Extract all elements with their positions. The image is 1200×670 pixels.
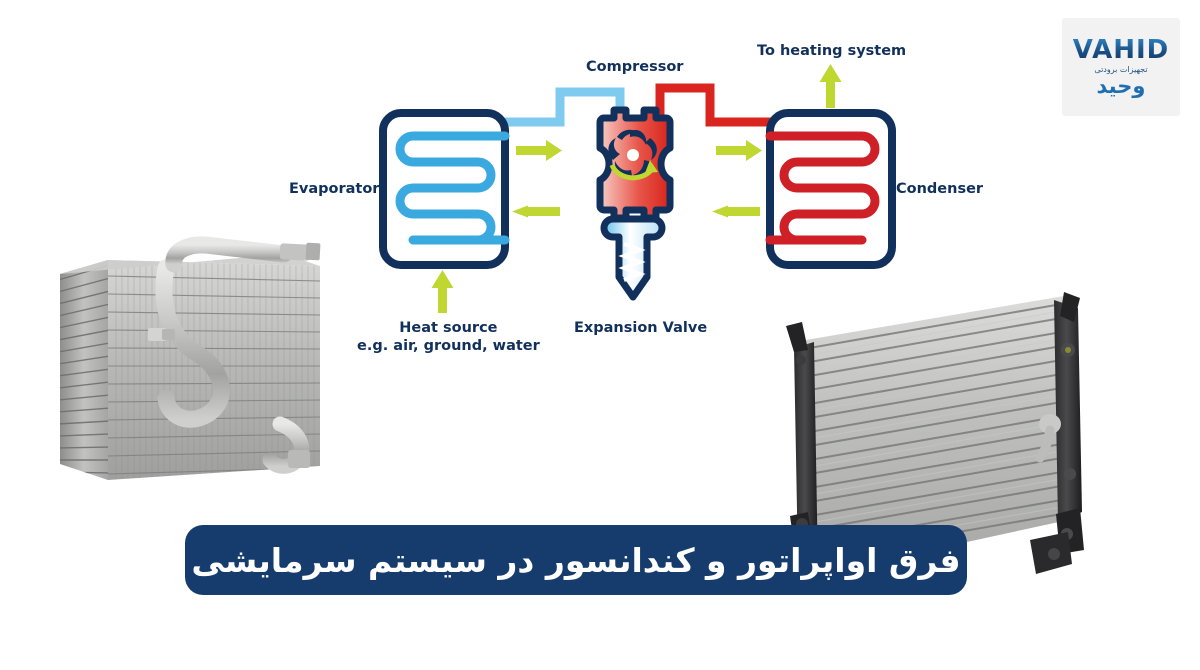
title-banner: فرق اواپراتور و کندانسور در سیستم سرمایش… (185, 525, 967, 595)
arrow-evaporator-to-compressor (516, 140, 562, 161)
arrow-compressor-to-condenser (716, 140, 762, 161)
poster-canvas: Evaporator Condenser Compressor To heati… (0, 0, 1200, 670)
arrow-condenser-to-valve (712, 206, 760, 218)
logo-name-fa: وحید (1097, 76, 1146, 97)
vahid-logo: VAHID تجهیزات برودتی وحید (1062, 18, 1180, 116)
label-evaporator: Evaporator (289, 181, 379, 199)
condenser-unit (770, 113, 892, 265)
logo-subtitle-fa: تجهیزات برودتی (1094, 66, 1147, 74)
banner-title-text: فرق اواپراتور و کندانسور در سیستم سرمایش… (191, 541, 960, 580)
label-heat-source: Heat source e.g. air, ground, water (357, 320, 540, 355)
arrow-valve-to-evaporator (512, 206, 560, 218)
label-condenser: Condenser (896, 181, 983, 199)
arrow-to-heating-system (820, 64, 842, 108)
label-expansion-valve: Expansion Valve (574, 320, 707, 338)
label-to-heating-system: To heating system (757, 43, 906, 61)
arrow-heat-source-in (432, 270, 454, 313)
evaporator-unit (383, 113, 505, 265)
compressor-unit (600, 110, 670, 218)
logo-brand-text: VAHID (1073, 37, 1170, 63)
label-heat-source-line2: e.g. air, ground, water (357, 338, 540, 356)
label-heat-source-line1: Heat source (357, 320, 540, 338)
expansion-valve-unit (604, 219, 662, 297)
label-compressor: Compressor (586, 59, 683, 77)
